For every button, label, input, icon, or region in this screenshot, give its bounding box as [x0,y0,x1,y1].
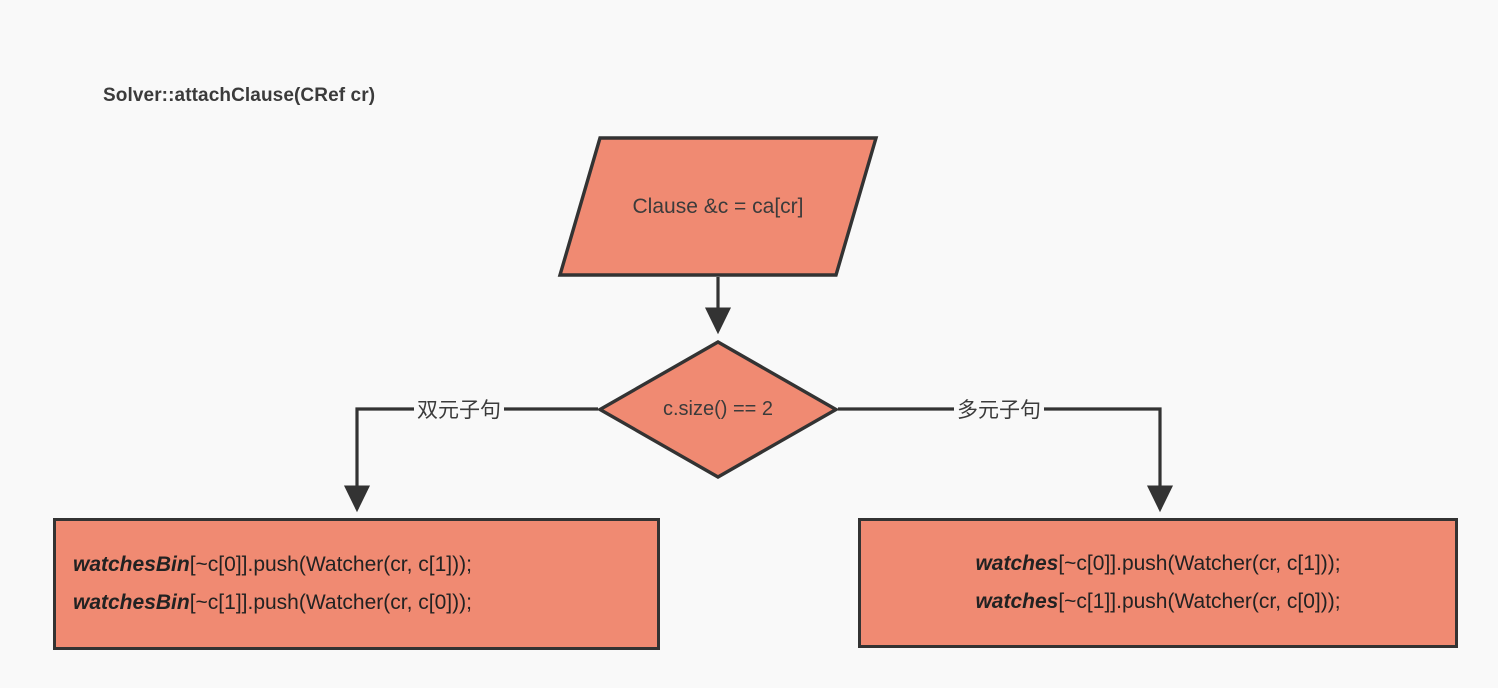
code-line: watches[~c[0]].push(Watcher(cr, c[1])); [975,545,1340,583]
code-identifier: watches [975,590,1058,613]
node-input-clause[interactable]: Clause &c = ca[cr] [558,136,878,277]
node-input-label: Clause &c = ca[cr] [558,136,878,277]
page-title: Solver::attachClause(CRef cr) [103,85,375,107]
node-decision-label: c.size() == 2 [598,340,838,479]
node-decision-size-check[interactable]: c.size() == 2 [598,340,838,479]
code-line: watches[~c[1]].push(Watcher(cr, c[0])); [975,583,1340,621]
code-expression: [~c[0]].push(Watcher(cr, c[1])); [190,553,472,576]
edge-label-binary-clause: 双元子句 [414,399,504,422]
flowchart-canvas: Solver::attachClause(CRef cr) Clause &c … [0,0,1498,688]
edge-decision-to-multi [838,409,1160,509]
code-identifier: watches [975,552,1058,575]
code-identifier: watchesBin [73,591,190,614]
node-binary-clause-action[interactable]: watchesBin[~c[0]].push(Watcher(cr, c[1])… [53,518,660,650]
code-expression: [~c[1]].push(Watcher(cr, c[0])); [190,591,472,614]
code-line: watchesBin[~c[0]].push(Watcher(cr, c[1])… [73,546,472,584]
code-expression: [~c[1]].push(Watcher(cr, c[0])); [1058,590,1340,613]
edge-label-multi-clause: 多元子句 [954,399,1044,422]
code-line: watchesBin[~c[1]].push(Watcher(cr, c[0])… [73,584,472,622]
code-identifier: watchesBin [73,553,190,576]
edge-decision-to-binary [357,409,598,509]
node-multi-clause-action[interactable]: watches[~c[0]].push(Watcher(cr, c[1])); … [858,518,1458,648]
code-expression: [~c[0]].push(Watcher(cr, c[1])); [1058,552,1340,575]
